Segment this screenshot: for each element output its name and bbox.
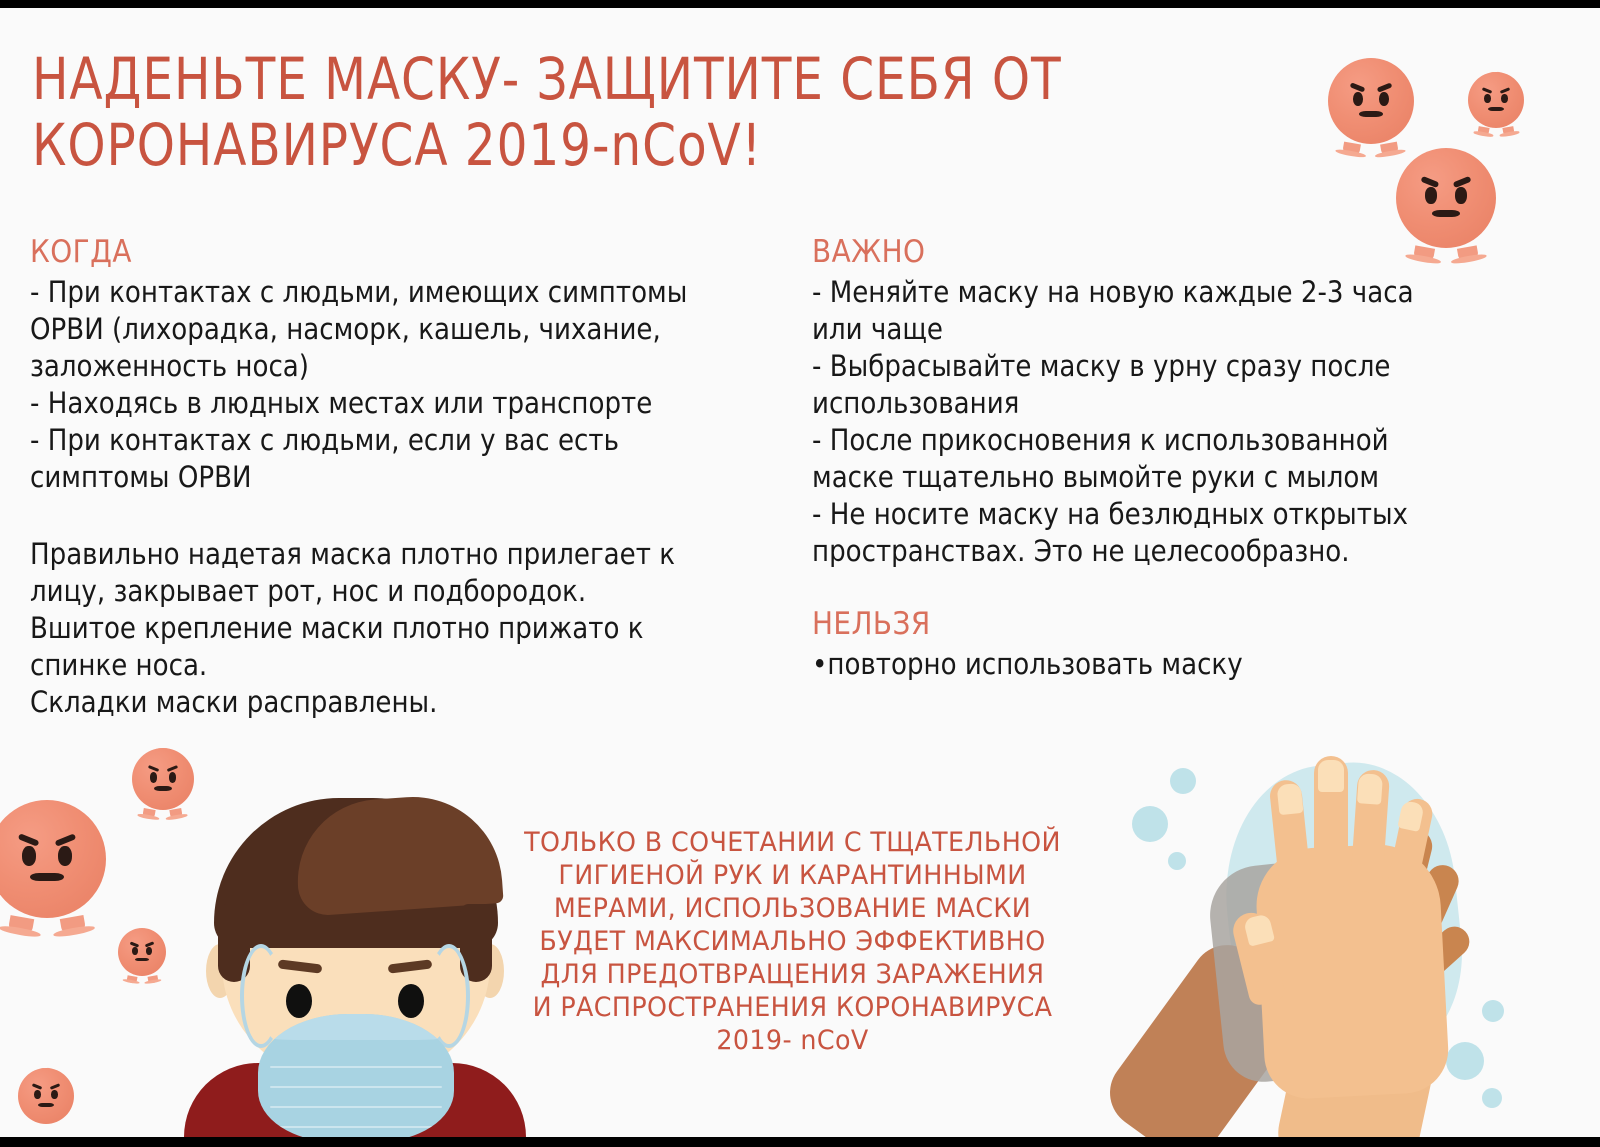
virus-eye bbox=[1379, 92, 1389, 107]
when-bullets: - При контактах с людьми, имеющих симпто… bbox=[30, 274, 789, 496]
important-line: или чаще bbox=[812, 311, 1511, 348]
important-line: маске тщательно вымойте руки с мылом bbox=[812, 459, 1511, 496]
mask-pleat bbox=[270, 1106, 442, 1108]
virus-eye bbox=[22, 846, 36, 866]
virus-icon-bottom-2 bbox=[132, 748, 194, 810]
right-column: ВАЖНО - Меняйте маску на новую каждые 2-… bbox=[812, 232, 1512, 683]
callout-text: ТОЛЬКО В СОЧЕТАНИИ С ТЩАТЕЛЬНОЙ ГИГИЕНОЙ… bbox=[500, 826, 1085, 1057]
soap-bubble bbox=[1170, 768, 1196, 794]
forbidden-lines: •повторно использовать маску bbox=[812, 646, 1511, 683]
virus-eye bbox=[1455, 187, 1467, 204]
virus-body bbox=[0, 800, 106, 918]
virus-body bbox=[1328, 58, 1414, 144]
paragraph-line: спинке носа. bbox=[30, 647, 789, 684]
page-title: НАДЕНЬТЕ МАСКУ- ЗАЩИТИТЕ СЕБЯ ОТ КОРОНАВ… bbox=[32, 46, 1213, 178]
callout-line: 2019- nCoV bbox=[518, 1024, 1068, 1057]
paragraph-line: лицу, закрывает рот, нос и подбородок. bbox=[30, 573, 789, 610]
important-line: использования bbox=[812, 385, 1511, 422]
important-lines: - Меняйте маску на новую каждые 2-3 часа… bbox=[812, 274, 1511, 570]
virus-eye bbox=[51, 1090, 58, 1100]
mask-fit-paragraph: Правильно надетая маска плотно прилегает… bbox=[30, 536, 789, 721]
section-heading-forbidden: НЕЛЬЗЯ bbox=[812, 604, 1442, 644]
when-line: заложенность носа) bbox=[30, 348, 789, 385]
virus-eye bbox=[132, 947, 138, 955]
soap-bubble bbox=[1168, 852, 1186, 870]
when-line: ОРВИ (лихорадка, насморк, кашель, чихани… bbox=[30, 311, 789, 348]
virus-foot bbox=[8, 915, 34, 935]
mask-pleat bbox=[270, 1126, 442, 1128]
section-heading-important: ВАЖНО bbox=[812, 232, 1442, 272]
virus-mouth bbox=[38, 1103, 54, 1107]
virus-mouth bbox=[135, 958, 148, 961]
virus-icon-top-2 bbox=[1468, 72, 1524, 128]
important-line: - Выбрасывайте маску в урну сразу после bbox=[812, 348, 1511, 385]
virus-eye bbox=[58, 846, 72, 866]
important-line: - Не носите маску на безлюдных открытых bbox=[812, 496, 1511, 533]
important-line: - Меняйте маску на новую каждые 2-3 часа bbox=[812, 274, 1511, 311]
virus-icon-bottom-4 bbox=[18, 1068, 74, 1124]
soap-bubble bbox=[1482, 1088, 1502, 1108]
title-line-2: КОРОНАВИРУСА 2019-nCoV! bbox=[32, 112, 1213, 178]
virus-body bbox=[118, 928, 166, 976]
virus-icon-bottom-1 bbox=[0, 800, 106, 918]
virus-mouth bbox=[1432, 210, 1460, 217]
left-column: КОГДА - При контактах с людьми, имеющих … bbox=[30, 232, 790, 721]
mask-pleat bbox=[270, 1086, 442, 1088]
virus-eye bbox=[1501, 94, 1508, 104]
hand-washing-illustration bbox=[1110, 750, 1560, 1137]
virus-icon-top-3 bbox=[1396, 148, 1496, 248]
virus-mouth bbox=[1359, 111, 1383, 117]
callout-line: ДЛЯ ПРЕДОТВРАЩЕНИЯ ЗАРАЖЕНИЯ bbox=[518, 958, 1068, 991]
virus-body bbox=[1396, 148, 1496, 248]
fingernail bbox=[1357, 773, 1383, 805]
virus-foot bbox=[1477, 127, 1489, 137]
callout-line: ТОЛЬКО В СОЧЕТАНИИ С ТЩАТЕЛЬНОЙ bbox=[518, 826, 1068, 859]
virus-eye bbox=[1425, 187, 1437, 204]
virus-eye bbox=[1484, 94, 1491, 104]
virus-mouth bbox=[30, 873, 63, 881]
virus-mouth bbox=[154, 786, 171, 790]
virus-eye bbox=[150, 772, 157, 783]
when-line: - Находясь в людных местах или транспорт… bbox=[30, 385, 789, 422]
virus-foot bbox=[1343, 142, 1362, 157]
important-line: - После прикосновения к использованной bbox=[812, 422, 1511, 459]
spacer bbox=[30, 496, 790, 536]
paragraph-line: Вшитое крепление маски плотно прижато к bbox=[30, 610, 789, 647]
virus-body bbox=[1468, 72, 1524, 128]
soap-bubble bbox=[1446, 1042, 1484, 1080]
virus-foot bbox=[60, 915, 86, 935]
when-line: - При контактах с людьми, если у вас ест… bbox=[30, 422, 789, 459]
boy-with-mask-illustration bbox=[200, 776, 510, 1137]
virus-body bbox=[132, 748, 194, 810]
virus-body bbox=[18, 1068, 74, 1124]
boy-eye-left bbox=[286, 984, 312, 1018]
callout-line: И РАСПРОСТРАНЕНИЯ КОРОНАВИРУСА bbox=[518, 991, 1068, 1024]
when-line: - При контактах с людьми, имеющих симпто… bbox=[30, 274, 789, 311]
soap-bubble bbox=[1482, 1000, 1504, 1022]
virus-eye bbox=[169, 772, 176, 783]
virus-foot bbox=[142, 808, 156, 819]
boy-eye-right bbox=[398, 984, 424, 1018]
spacer bbox=[812, 570, 1512, 604]
forbidden-line: •повторно использовать маску bbox=[812, 646, 1511, 683]
virus-mouth bbox=[1488, 107, 1504, 111]
mask-pleat bbox=[270, 1066, 442, 1068]
soap-bubble bbox=[1132, 806, 1168, 842]
title-line-1: НАДЕНЬТЕ МАСКУ- ЗАЩИТИТЕ СЕБЯ ОТ bbox=[32, 46, 1213, 112]
virus-foot bbox=[147, 975, 158, 983]
mask-top-edge bbox=[258, 1014, 454, 1040]
when-line: симптомы ОРВИ bbox=[30, 459, 789, 496]
callout-line: ГИГИЕНОЙ РУК И КАРАНТИННЫМИ bbox=[518, 859, 1068, 892]
surgical-mask-icon bbox=[258, 1014, 454, 1137]
important-line: пространствах. Это не целесообразно. bbox=[812, 533, 1511, 570]
virus-foot bbox=[170, 808, 184, 819]
virus-foot bbox=[126, 975, 137, 983]
virus-foot bbox=[1502, 127, 1514, 137]
section-heading-when: КОГДА bbox=[30, 232, 714, 272]
paragraph-line: Складки маски расправлены. bbox=[30, 684, 789, 721]
virus-eye bbox=[34, 1090, 41, 1100]
fingernail bbox=[1318, 760, 1344, 792]
callout-line: МЕРАМИ, ИСПОЛЬЗОВАНИЕ МАСКИ bbox=[518, 892, 1068, 925]
virus-icon-top-1 bbox=[1328, 58, 1414, 144]
fingernail bbox=[1276, 783, 1303, 815]
virus-icon-bottom-3 bbox=[118, 928, 166, 976]
paragraph-line: Правильно надетая маска плотно прилегает… bbox=[30, 536, 789, 573]
virus-eye bbox=[146, 947, 152, 955]
callout-line: БУДЕТ МАКСИМАЛЬНО ЭФФЕКТИВНО bbox=[518, 925, 1068, 958]
poster-canvas: НАДЕНЬТЕ МАСКУ- ЗАЩИТИТЕ СЕБЯ ОТ КОРОНАВ… bbox=[0, 8, 1600, 1137]
